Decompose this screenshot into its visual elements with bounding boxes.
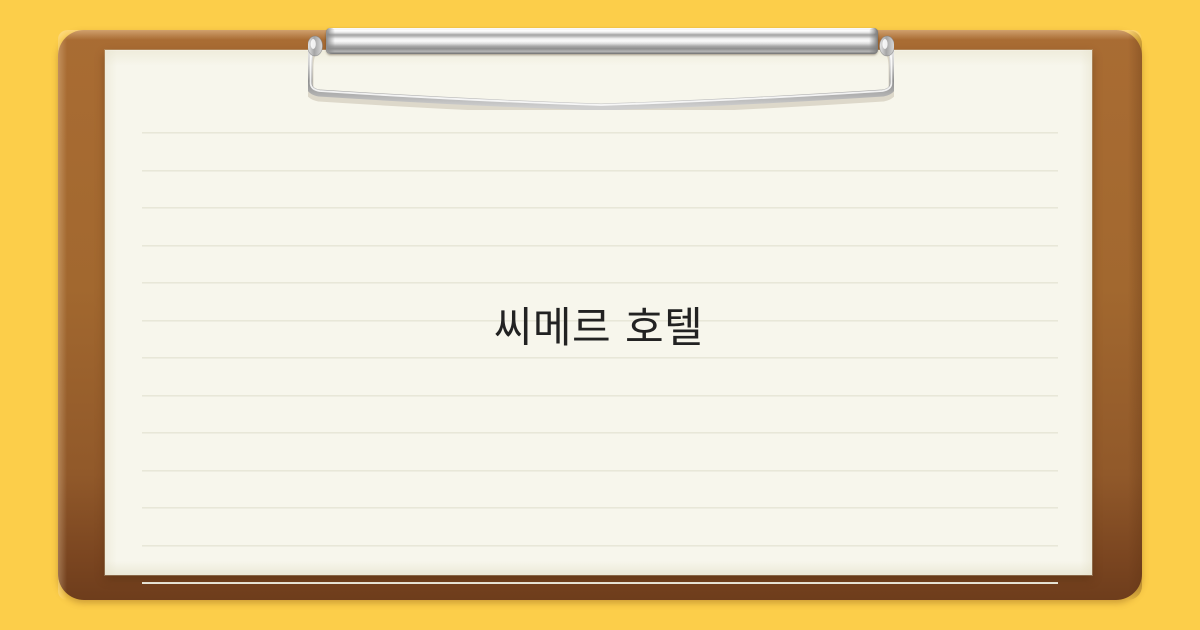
board-left-highlight	[58, 30, 67, 600]
paper-rule-line	[142, 432, 1058, 434]
paper-rule-line	[142, 282, 1058, 284]
paper-rule-line	[142, 395, 1058, 397]
board-right-shadow	[1128, 30, 1142, 600]
paper-rule-line	[142, 207, 1058, 209]
paper-rule-line	[142, 245, 1058, 247]
paper-rule-line	[142, 470, 1058, 472]
paper-rule-line	[142, 545, 1058, 547]
clipboard-card-scene: 씨메르 호텔	[0, 0, 1200, 630]
paper-rule-line	[142, 170, 1058, 172]
paper-rule-line	[142, 507, 1058, 509]
paper-rule-line	[142, 132, 1058, 134]
paper-edge-shading	[105, 50, 1092, 575]
paper-ruled-lines	[142, 50, 1058, 575]
paper-rule-line	[142, 320, 1058, 322]
board-top-highlight	[58, 30, 1142, 40]
note-paper	[105, 50, 1092, 575]
paper-rule-line	[142, 357, 1058, 359]
